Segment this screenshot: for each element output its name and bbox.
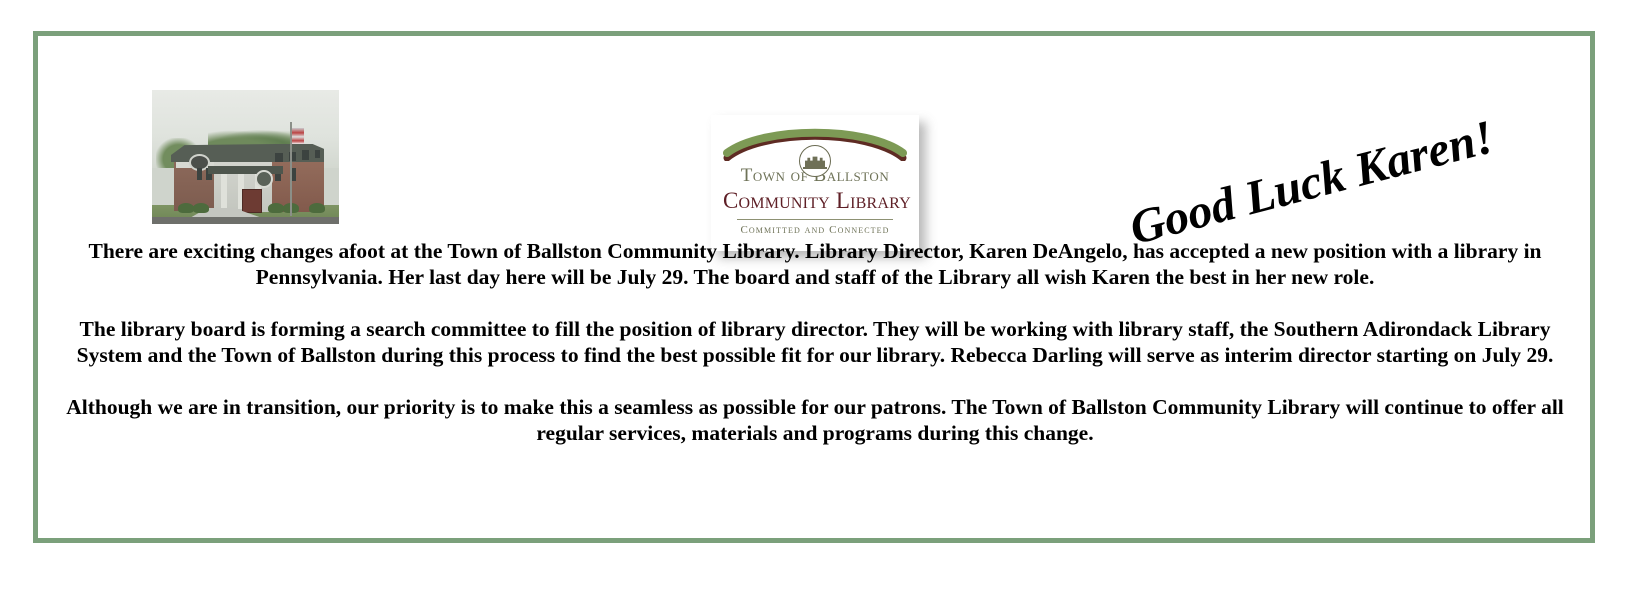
logo-tagline: Committed and Connected — [723, 224, 907, 236]
library-logo: Town of Ballston Community Library Commi… — [711, 115, 919, 251]
crest-base-line — [803, 167, 827, 169]
photo-window — [302, 150, 309, 159]
logo-arc — [723, 125, 907, 161]
good-luck-headline: Good Luck Karen! — [1128, 131, 1528, 241]
logo-divider — [737, 219, 893, 220]
paragraph-3: Although we are in transition, our prior… — [60, 394, 1570, 446]
library-announcement-flyer: Town of Ballston Community Library Commi… — [0, 0, 1650, 600]
photo-parking-lot — [152, 217, 339, 224]
crest-building-shape — [805, 156, 825, 167]
photo-column — [221, 174, 227, 209]
library-crest-icon — [799, 145, 831, 177]
logo-line-community-library: Community Library — [723, 188, 907, 214]
photo-window — [197, 168, 203, 180]
good-luck-text: Good Luck Karen! — [1124, 109, 1499, 256]
paragraph-2: The library board is forming a search co… — [60, 316, 1570, 368]
library-building-photo — [152, 90, 339, 224]
media-row: Town of Ballston Community Library Commi… — [33, 31, 1595, 231]
photo-shrub — [268, 203, 284, 213]
photo-window — [315, 150, 321, 158]
paragraph-1: There are exciting changes afoot at the … — [60, 238, 1570, 290]
photo-shrub — [193, 203, 209, 213]
photo-shrub — [309, 203, 325, 213]
photo-entry-canopy — [208, 166, 283, 174]
library-logo-card: Town of Ballston Community Library Commi… — [711, 115, 919, 251]
announcement-body: There are exciting changes afoot at the … — [60, 238, 1570, 446]
photo-entry-door — [242, 189, 263, 212]
american-flag-icon — [292, 128, 304, 144]
photo-shrub — [178, 203, 194, 213]
photo-window — [275, 153, 282, 162]
